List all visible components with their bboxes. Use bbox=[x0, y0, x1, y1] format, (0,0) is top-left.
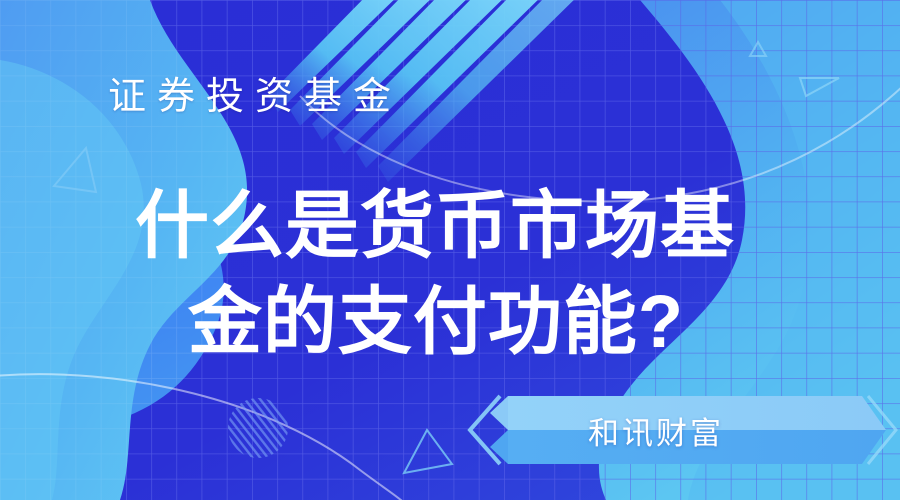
poster-content: 证券投资基金 什么是货币市场基 金的支付功能? 和讯财富 bbox=[0, 0, 900, 500]
headline: 什么是货币市场基 金的支付功能? bbox=[0, 178, 900, 370]
poster-canvas: 证券投资基金 什么是货币市场基 金的支付功能? 和讯财富 bbox=[0, 0, 900, 500]
eyebrow-text: 证券投资基金 bbox=[108, 78, 402, 116]
brand-name: 和讯财富 bbox=[466, 392, 886, 468]
brand-banner: 和讯财富 bbox=[466, 392, 886, 468]
headline-line-1: 什么是货币市场基 bbox=[0, 178, 900, 274]
headline-line-2: 金的支付功能? bbox=[0, 274, 900, 370]
